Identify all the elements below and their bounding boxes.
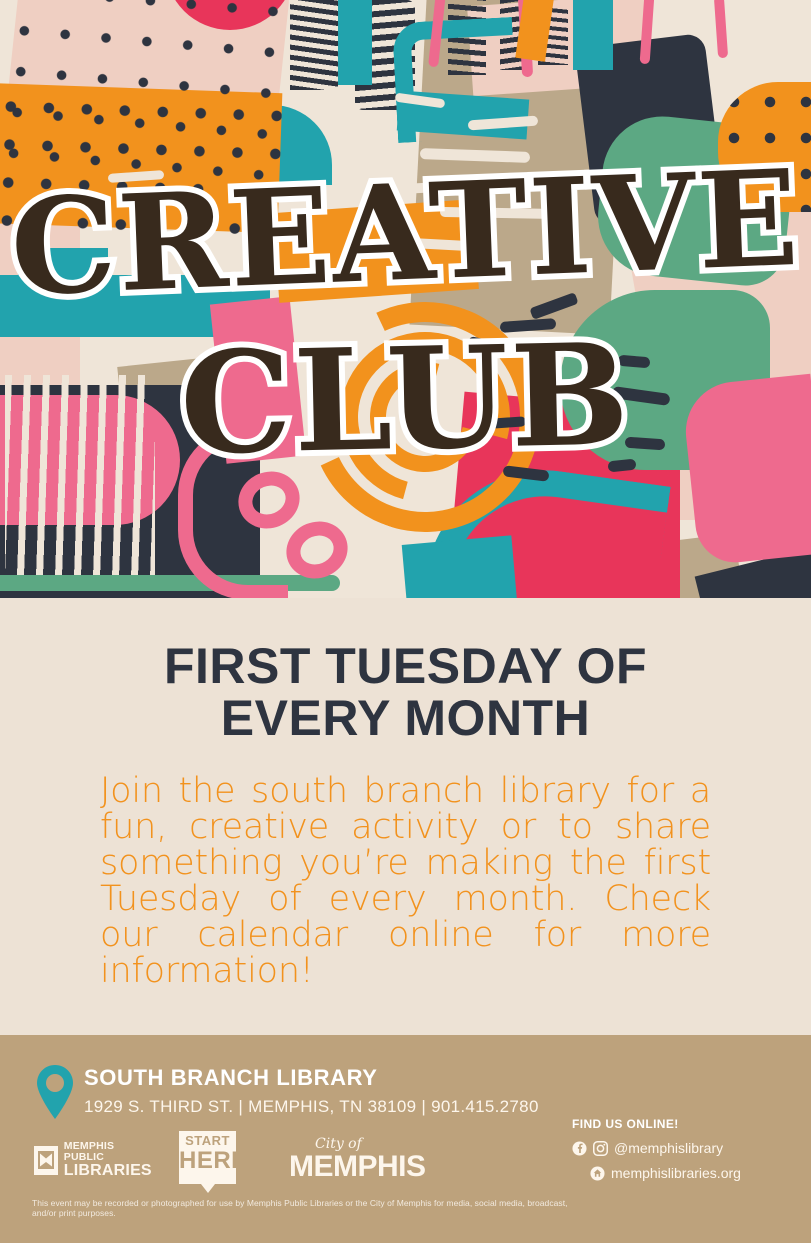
branch-name: SOUTH BRANCH LIBRARY (84, 1065, 378, 1091)
poster: CREATIVE CLUB FIRST TUESDAY OF EVERY MON… (0, 0, 811, 1243)
city-of-memphis-logo: City of MEMPHIS (289, 1137, 426, 1182)
title-line-club: CLUB (0, 322, 811, 479)
body-section: FIRST TUESDAY OF EVERY MONTH Join the so… (0, 607, 811, 1035)
title-line-creative: CREATIVE (0, 152, 811, 315)
start-here-line2: HERE (179, 1148, 236, 1174)
wordmark: CREATIVE CLUB (0, 0, 811, 607)
start-here-line1: START (179, 1134, 236, 1148)
start-here-bubble: START HERE (179, 1131, 236, 1184)
social-handle-row[interactable]: @memphislibrary (572, 1140, 802, 1156)
mpl-badge-icon (34, 1146, 58, 1175)
event-headline: FIRST TUESDAY OF EVERY MONTH (80, 640, 731, 744)
instagram-icon[interactable] (593, 1141, 608, 1156)
find-us-online-block: FIND US ONLINE! @memphislibrary (572, 1117, 802, 1181)
collage-artwork: CREATIVE CLUB (0, 0, 811, 607)
mpl-wordmark: MEMPHIS PUBLIC LIBRARIES (64, 1141, 153, 1179)
mpl-line2: LIBRARIES (64, 1163, 153, 1179)
website-home-icon[interactable] (590, 1166, 605, 1181)
city-memphis-label: MEMPHIS (289, 1152, 426, 1182)
find-us-online-title: FIND US ONLINE! (572, 1117, 802, 1131)
branch-address: 1929 S. THIRD ST. | MEMPHIS, TN 38109 | … (84, 1097, 539, 1117)
photo-disclaimer: This event may be recorded or photograph… (32, 1198, 592, 1218)
facebook-icon[interactable] (572, 1141, 587, 1156)
footer-section: SOUTH BRANCH LIBRARY 1929 S. THIRD ST. |… (0, 1035, 811, 1243)
start-here-logo: START HERE (179, 1131, 236, 1184)
memphis-public-libraries-logo: MEMPHIS PUBLIC LIBRARIES (34, 1141, 153, 1179)
website-text: memphislibraries.org (611, 1165, 741, 1181)
map-pin-icon (36, 1064, 74, 1120)
website-row[interactable]: memphislibraries.org (590, 1165, 802, 1181)
event-description: Join the south branch library for a fun,… (100, 773, 711, 989)
social-handle-text: @memphislibrary (614, 1140, 723, 1156)
mpl-line1: MEMPHIS PUBLIC (64, 1141, 153, 1162)
